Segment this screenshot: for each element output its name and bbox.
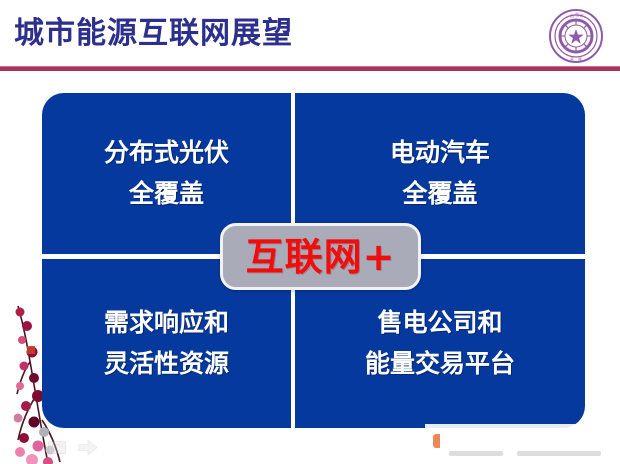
orange-marker-icon: [433, 434, 440, 448]
next-arrow-icon[interactable]: [78, 440, 97, 455]
quadrant-bottom-right-line2: 能量交易平台: [365, 346, 515, 382]
quadrant-bottom-left-line2: 灵活性资源: [104, 346, 229, 382]
overlay-placeholder-line: [449, 451, 503, 456]
quadrant-bottom-left-line1: 需求响应和: [104, 305, 229, 341]
note-icon[interactable]: [48, 441, 66, 454]
quadrant-top-left-line1: 分布式光伏: [104, 135, 229, 171]
slide-canvas: 城市能源互联网展望 自 强 不 息: [0, 0, 620, 464]
center-badge-label: 互联网+: [246, 238, 396, 276]
bottom-overlay-panel: [425, 424, 620, 464]
quadrant-top-right-line2: 全覆盖: [402, 176, 477, 212]
viewer-toolbar[interactable]: [48, 440, 97, 455]
slide-header: 城市能源互联网展望: [0, 0, 620, 72]
overlay-placeholder-line: [517, 451, 601, 456]
center-badge[interactable]: 互联网+: [220, 223, 421, 290]
quadrant-top-right-line1: 电动汽车: [390, 135, 490, 171]
title-divider-rule: [0, 66, 620, 71]
quadrant-bottom-right-line1: 售电公司和: [377, 305, 502, 341]
page-title: 城市能源互联网展望: [14, 19, 293, 49]
quadrant-top-left-line2: 全覆盖: [129, 176, 204, 212]
